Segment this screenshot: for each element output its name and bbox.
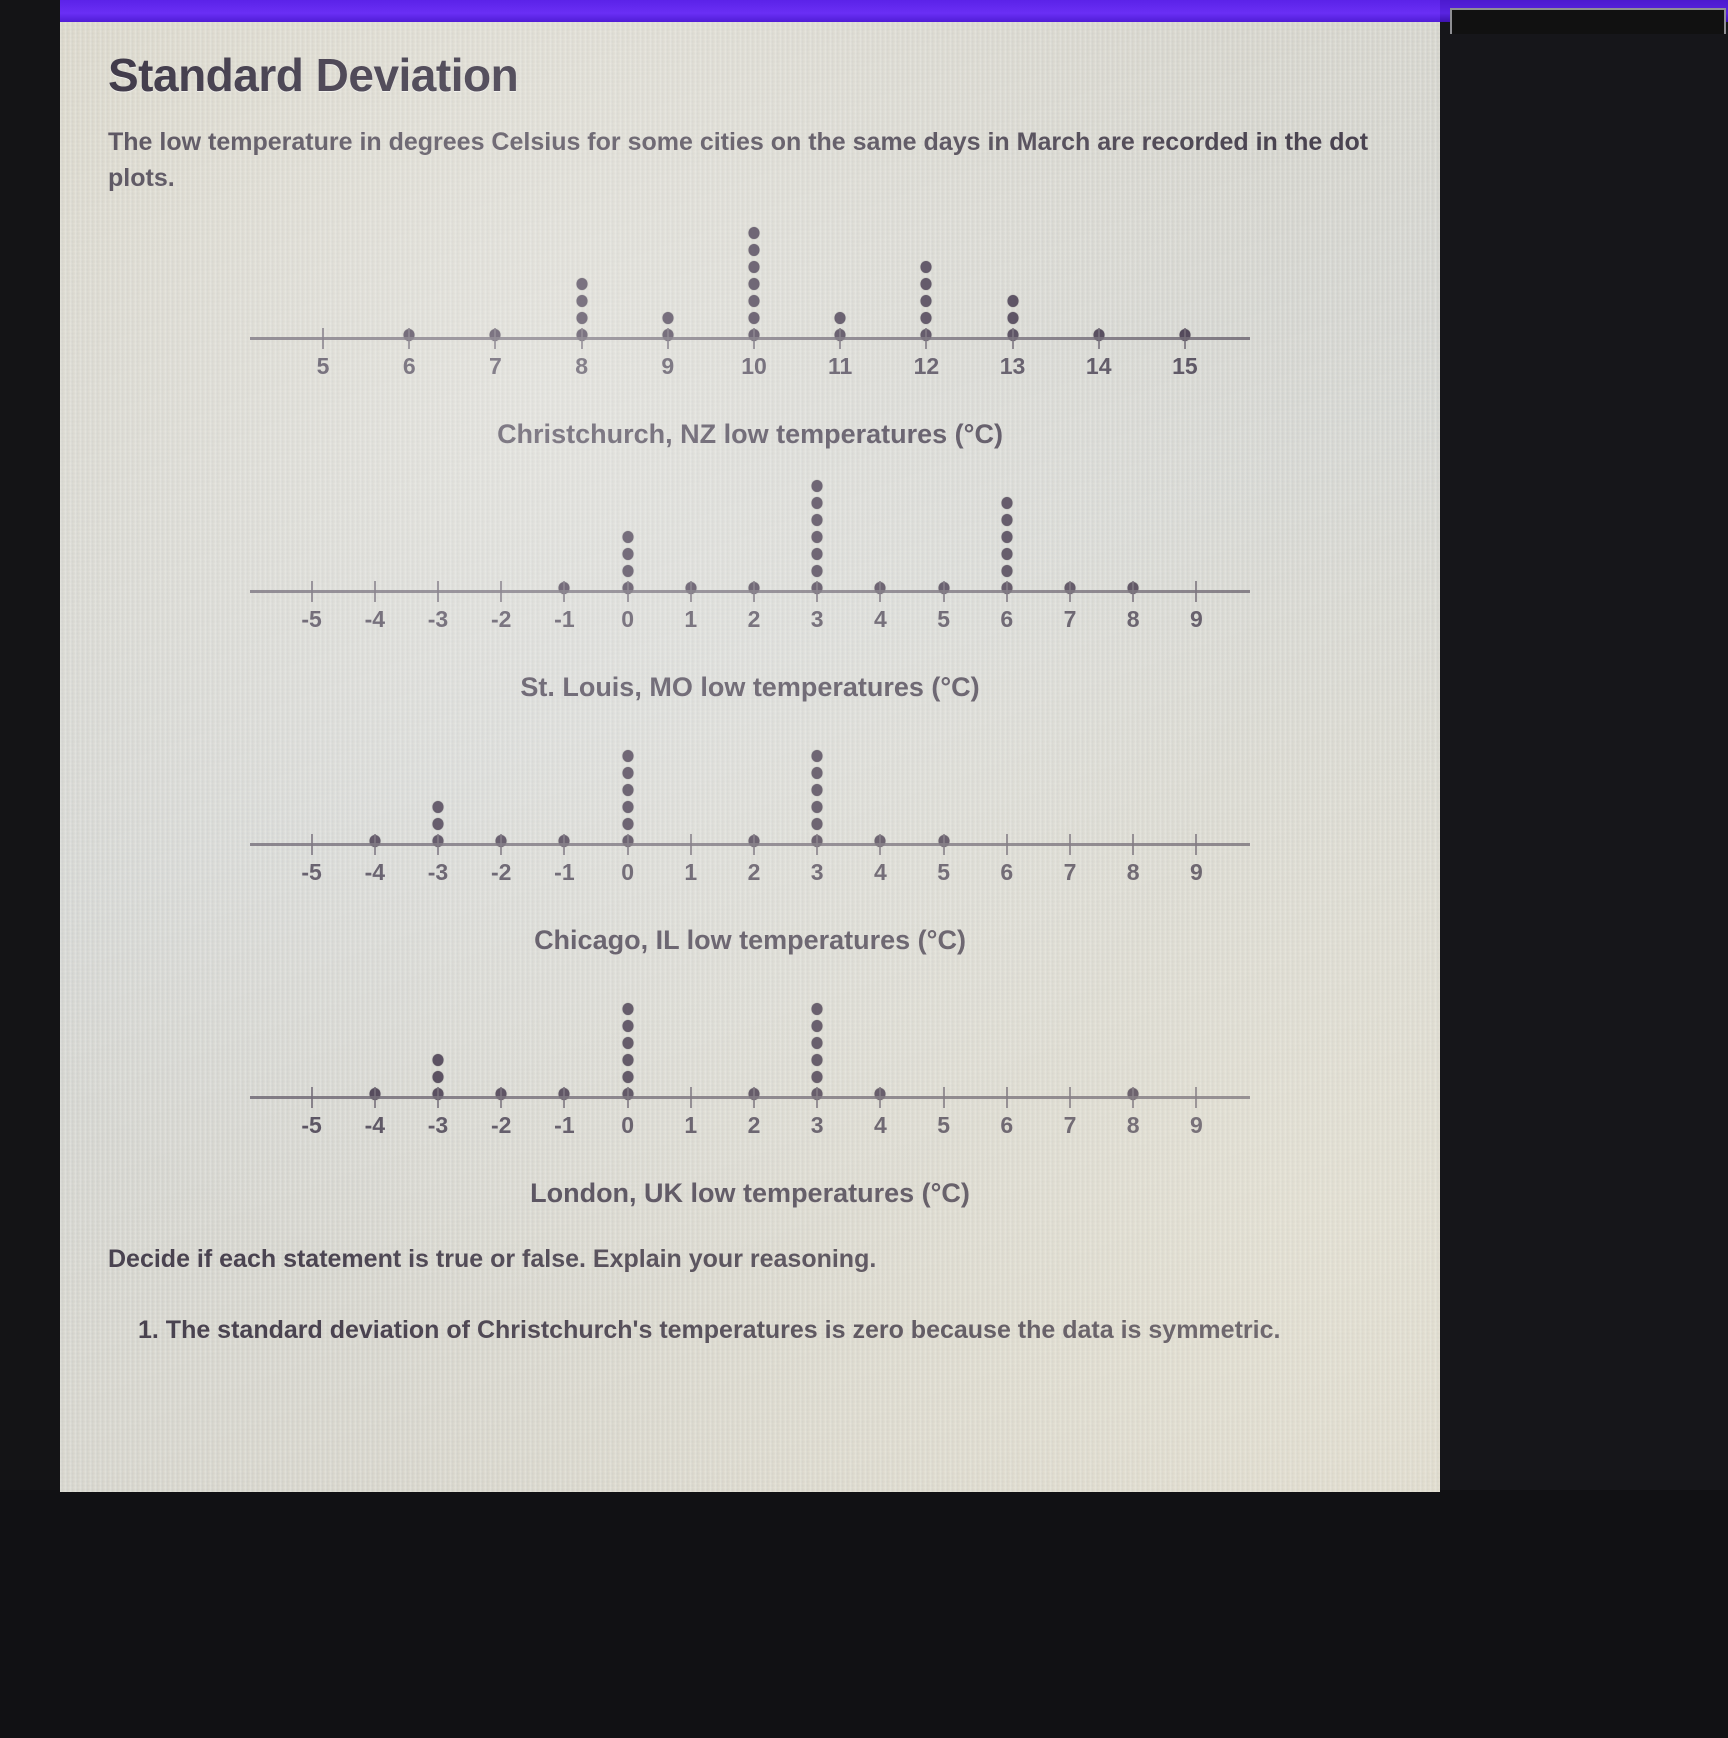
data-point xyxy=(433,1071,444,1083)
axis-tick-label: 13 xyxy=(1000,353,1026,380)
axis-tick xyxy=(494,328,496,349)
axis-tick-label: 7 xyxy=(1064,859,1077,886)
axis-tick-label: 4 xyxy=(874,859,887,886)
data-point xyxy=(622,531,633,543)
data-point xyxy=(1001,514,1012,526)
axis-tick-label: 14 xyxy=(1086,353,1112,380)
data-point xyxy=(812,750,823,762)
data-point xyxy=(921,295,932,307)
axis-tick xyxy=(1012,328,1014,349)
app-window: Standard Deviation The low temperature i… xyxy=(0,0,1728,1738)
data-point xyxy=(812,1037,823,1049)
axis-tick xyxy=(500,581,502,602)
axis-tick-label: 9 xyxy=(1190,606,1203,633)
data-point xyxy=(812,784,823,796)
data-point xyxy=(921,312,932,324)
data-point xyxy=(622,784,633,796)
dot-area xyxy=(250,450,1250,590)
axis-tick-label: 4 xyxy=(874,606,887,633)
axis-tick xyxy=(627,834,629,855)
x-axis: -5-4-3-2-10123456789 xyxy=(250,1096,1250,1152)
data-point xyxy=(812,767,823,779)
data-point xyxy=(812,480,823,492)
data-point xyxy=(1001,548,1012,560)
axis-tick xyxy=(374,581,376,602)
axis-tick-label: -4 xyxy=(365,606,385,633)
axis-tick-label: 1 xyxy=(684,1112,697,1139)
side-panel-outline xyxy=(1450,8,1726,34)
axis-tick-label: 0 xyxy=(621,606,634,633)
axis-tick-label: 4 xyxy=(874,1112,887,1139)
x-axis: -5-4-3-2-10123456789 xyxy=(250,590,1250,646)
axis-tick xyxy=(374,834,376,855)
axis-tick-label: 5 xyxy=(317,353,330,380)
data-point xyxy=(812,1054,823,1066)
data-point xyxy=(812,1071,823,1083)
data-point xyxy=(812,548,823,560)
axis-tick xyxy=(437,1087,439,1108)
intro-paragraph: The low temperature in degrees Celsius f… xyxy=(60,102,1440,197)
data-point xyxy=(576,312,587,324)
axis-tick xyxy=(1132,1087,1134,1108)
axis-tick xyxy=(1098,328,1100,349)
data-point xyxy=(622,565,633,577)
dot-plots-container: 56789101112131415Christchurch, NZ low te… xyxy=(60,197,1440,1209)
axis-tick-label: 3 xyxy=(811,606,824,633)
axis-tick-label: -3 xyxy=(428,1112,448,1139)
dot-plot-st-louis: -5-4-3-2-10123456789St. Louis, MO low te… xyxy=(250,450,1250,703)
x-axis: 56789101112131415 xyxy=(250,337,1250,393)
axis-tick xyxy=(690,581,692,602)
axis-tick-label: 8 xyxy=(1127,1112,1140,1139)
data-point xyxy=(749,261,760,273)
axis-tick-label: -4 xyxy=(365,859,385,886)
axis-tick xyxy=(816,581,818,602)
axis-tick-label: 8 xyxy=(575,353,588,380)
data-point xyxy=(749,227,760,239)
data-point xyxy=(749,278,760,290)
data-point xyxy=(749,295,760,307)
axis-tick-label: -2 xyxy=(491,1112,511,1139)
axis-tick xyxy=(667,328,669,349)
data-point xyxy=(576,278,587,290)
data-point xyxy=(622,801,633,813)
data-point xyxy=(835,312,846,324)
dot-plot-chicago: -5-4-3-2-10123456789Chicago, IL low temp… xyxy=(250,703,1250,956)
data-point xyxy=(622,767,633,779)
axis-tick-label: 2 xyxy=(748,859,761,886)
axis-tick-label: -5 xyxy=(301,606,321,633)
axis-tick xyxy=(753,1087,755,1108)
axis-tick xyxy=(1195,834,1197,855)
data-point xyxy=(622,818,633,830)
axis-tick-label: -3 xyxy=(428,606,448,633)
axis-line xyxy=(250,843,1250,846)
question-1: 1. The standard deviation of Christchurc… xyxy=(60,1274,1440,1350)
axis-tick xyxy=(1132,581,1134,602)
data-point xyxy=(433,801,444,813)
axis-tick xyxy=(437,834,439,855)
data-point xyxy=(1007,295,1018,307)
axis-tick-label: 5 xyxy=(937,859,950,886)
axis-tick-label: 10 xyxy=(741,353,767,380)
axis-tick xyxy=(563,834,565,855)
data-point xyxy=(622,548,633,560)
screen-bottom-bezel xyxy=(0,1490,1728,1738)
data-point xyxy=(433,1054,444,1066)
axis-tick xyxy=(374,1087,376,1108)
axis-tick-label: 6 xyxy=(403,353,416,380)
data-point xyxy=(433,818,444,830)
data-point xyxy=(622,1003,633,1015)
axis-tick-label: -1 xyxy=(554,606,574,633)
axis-tick xyxy=(943,1087,945,1108)
data-point xyxy=(812,497,823,509)
data-point xyxy=(622,1054,633,1066)
dot-area xyxy=(250,956,1250,1096)
axis-tick-label: -4 xyxy=(365,1112,385,1139)
axis-tick-label: 0 xyxy=(621,1112,634,1139)
axis-tick xyxy=(311,834,313,855)
axis-tick-label: 9 xyxy=(1190,1112,1203,1139)
axis-tick-label: 7 xyxy=(1064,606,1077,633)
axis-tick-label: 12 xyxy=(914,353,940,380)
data-point xyxy=(1001,531,1012,543)
axis-tick xyxy=(816,1087,818,1108)
axis-tick-label: 2 xyxy=(748,606,761,633)
data-point xyxy=(622,1020,633,1032)
axis-tick-label: 8 xyxy=(1127,606,1140,633)
data-point xyxy=(812,1020,823,1032)
data-point xyxy=(921,278,932,290)
axis-tick xyxy=(408,328,410,349)
data-point xyxy=(1007,312,1018,324)
axis-tick-label: 15 xyxy=(1172,353,1198,380)
data-point xyxy=(622,1071,633,1083)
data-point xyxy=(622,1037,633,1049)
dot-area xyxy=(250,703,1250,843)
axis-tick xyxy=(437,581,439,602)
data-point xyxy=(1001,565,1012,577)
screen-left-bezel xyxy=(0,0,60,1738)
axis-tick-label: 7 xyxy=(1064,1112,1077,1139)
axis-tick xyxy=(943,581,945,602)
axis-tick xyxy=(879,834,881,855)
axis-tick-label: 6 xyxy=(1000,1112,1013,1139)
data-point xyxy=(662,312,673,324)
axis-tick xyxy=(753,328,755,349)
axis-tick-label: -3 xyxy=(428,859,448,886)
axis-tick xyxy=(753,834,755,855)
data-point xyxy=(812,818,823,830)
axis-tick-label: 1 xyxy=(684,859,697,886)
axis-tick-label: -5 xyxy=(301,859,321,886)
axis-tick xyxy=(690,1087,692,1108)
axis-tick xyxy=(311,581,313,602)
plot-caption: St. Louis, MO low temperatures (°C) xyxy=(250,672,1250,703)
axis-tick xyxy=(816,834,818,855)
page-title: Standard Deviation xyxy=(60,22,1440,102)
axis-tick-label: 3 xyxy=(811,1112,824,1139)
axis-tick xyxy=(943,834,945,855)
data-point xyxy=(749,312,760,324)
axis-tick-label: 3 xyxy=(811,859,824,886)
axis-tick-label: 1 xyxy=(684,606,697,633)
data-point xyxy=(812,531,823,543)
axis-tick xyxy=(322,328,324,349)
data-point xyxy=(812,801,823,813)
axis-tick-label: -2 xyxy=(491,606,511,633)
axis-tick xyxy=(879,1087,881,1108)
axis-tick xyxy=(1006,581,1008,602)
axis-tick-label: 6 xyxy=(1000,606,1013,633)
axis-tick-label: 6 xyxy=(1000,859,1013,886)
axis-tick xyxy=(879,581,881,602)
axis-tick xyxy=(563,581,565,602)
plot-caption: Chicago, IL low temperatures (°C) xyxy=(250,925,1250,956)
axis-tick xyxy=(581,328,583,349)
app-accent-bar xyxy=(60,0,1440,24)
axis-tick-label: 7 xyxy=(489,353,502,380)
dot-plot-london: -5-4-3-2-10123456789London, UK low tempe… xyxy=(250,956,1250,1209)
axis-tick xyxy=(925,328,927,349)
dot-plot-christchurch: 56789101112131415Christchurch, NZ low te… xyxy=(250,197,1250,450)
axis-tick-label: -1 xyxy=(554,859,574,886)
axis-tick xyxy=(1132,834,1134,855)
axis-tick-label: 9 xyxy=(1190,859,1203,886)
prompt-lead: Decide if each statement is true or fals… xyxy=(60,1209,1440,1274)
axis-tick-label: -2 xyxy=(491,859,511,886)
data-point xyxy=(1001,497,1012,509)
axis-tick xyxy=(627,581,629,602)
axis-tick-label: 9 xyxy=(661,353,674,380)
axis-tick-label: 11 xyxy=(828,353,852,380)
data-point xyxy=(812,514,823,526)
axis-tick xyxy=(563,1087,565,1108)
axis-tick-label: 2 xyxy=(748,1112,761,1139)
axis-tick-label: -1 xyxy=(554,1112,574,1139)
dot-area xyxy=(250,197,1250,337)
plot-caption: Christchurch, NZ low temperatures (°C) xyxy=(250,419,1250,450)
x-axis: -5-4-3-2-10123456789 xyxy=(250,843,1250,899)
axis-tick xyxy=(1069,834,1071,855)
plot-caption: London, UK low temperatures (°C) xyxy=(250,1178,1250,1209)
axis-tick xyxy=(1184,328,1186,349)
lesson-page: Standard Deviation The low temperature i… xyxy=(60,22,1440,1492)
data-point xyxy=(622,750,633,762)
axis-tick-label: -5 xyxy=(301,1112,321,1139)
axis-line xyxy=(250,337,1250,340)
data-point xyxy=(921,261,932,273)
axis-tick xyxy=(1006,834,1008,855)
axis-tick xyxy=(500,1087,502,1108)
axis-tick xyxy=(839,328,841,349)
axis-tick xyxy=(311,1087,313,1108)
axis-line xyxy=(250,590,1250,593)
axis-tick xyxy=(1069,581,1071,602)
axis-tick-label: 5 xyxy=(937,606,950,633)
data-point xyxy=(812,565,823,577)
data-point xyxy=(576,295,587,307)
data-point xyxy=(749,244,760,256)
axis-tick xyxy=(1195,581,1197,602)
axis-line xyxy=(250,1096,1250,1099)
axis-tick xyxy=(1195,1087,1197,1108)
data-point xyxy=(812,1003,823,1015)
axis-tick xyxy=(627,1087,629,1108)
axis-tick xyxy=(1069,1087,1071,1108)
axis-tick-label: 5 xyxy=(937,1112,950,1139)
axis-tick xyxy=(690,834,692,855)
axis-tick xyxy=(753,581,755,602)
axis-tick xyxy=(1006,1087,1008,1108)
axis-tick-label: 8 xyxy=(1127,859,1140,886)
axis-tick-label: 0 xyxy=(621,859,634,886)
axis-tick xyxy=(500,834,502,855)
